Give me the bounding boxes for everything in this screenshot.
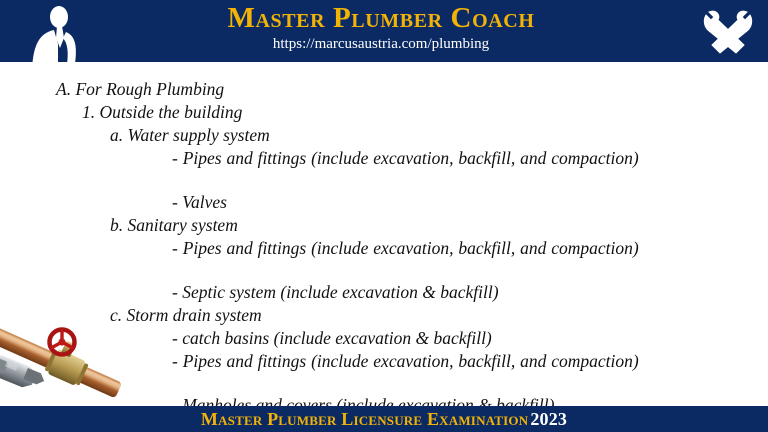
outline-item-b-septic: - Septic system (include excavation & ba… xyxy=(172,281,499,303)
outline-item-c-pipes: - Pipes and fittings (include excavation… xyxy=(116,350,712,372)
outline-item-b: b. Sanitary system xyxy=(110,214,238,236)
footer-title: Master Plumber Licensure Examination xyxy=(201,409,528,430)
outline-item-c: c. Storm drain system xyxy=(110,304,262,326)
slide-header-banner: Master Plumber Coach https://marcusaustr… xyxy=(0,0,768,62)
slide: Master Plumber Coach https://marcusaustr… xyxy=(0,0,768,432)
plumber-silhouette-icon xyxy=(24,4,86,70)
footer-year: 2023 xyxy=(530,409,567,430)
outline-item-c-catch-basins: - catch basins (include excavation & bac… xyxy=(172,327,492,349)
slide-footer-banner: Master Plumber Licensure Examination 202… xyxy=(0,406,768,432)
crossed-wrench-screwdriver-icon xyxy=(700,6,756,58)
copper-pipe-valve-wrench-photo xyxy=(0,320,122,406)
page-title: Master Plumber Coach xyxy=(88,2,674,34)
outline-item-a-pipes: - Pipes and fittings (include excavation… xyxy=(116,147,712,169)
outline-item-a-valves: - Valves xyxy=(172,191,227,213)
outline-item-a: a. Water supply system xyxy=(110,124,270,146)
header-url: https://marcusaustria.com/plumbing xyxy=(88,34,674,54)
outline-item-b-pipes: - Pipes and fittings (include excavation… xyxy=(116,237,712,259)
outline-item-A1: 1. Outside the building xyxy=(82,101,242,123)
outline-item-A: A. For Rough Plumbing xyxy=(56,78,224,100)
